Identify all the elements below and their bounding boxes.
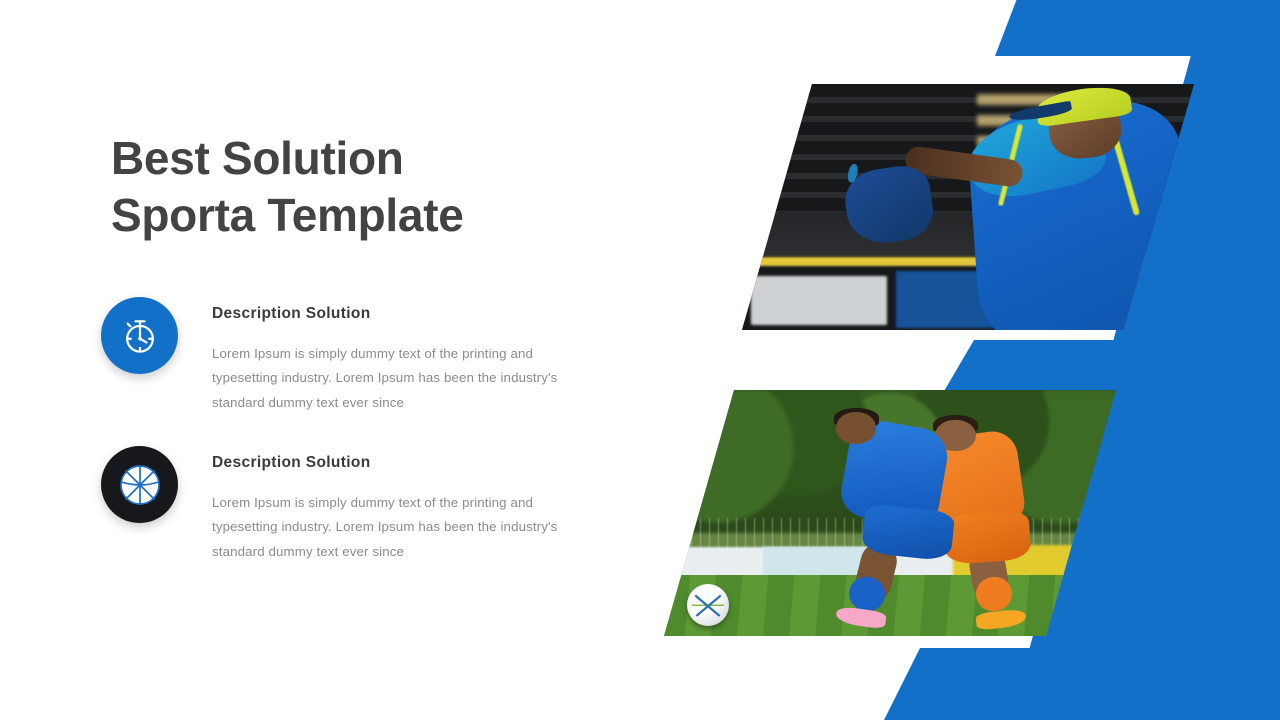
top-blue-parallelogram-shape bbox=[960, 0, 1280, 56]
feature-item-1: Description Solution Lorem Ipsum is simp… bbox=[101, 297, 584, 415]
feature-text-2: Description Solution Lorem Ipsum is simp… bbox=[212, 446, 584, 564]
page-title: Best Solution Sporta Template bbox=[111, 130, 631, 244]
soccer-players-photo bbox=[664, 390, 1116, 636]
stopwatch-icon bbox=[101, 297, 178, 374]
feature-text-1: Description Solution Lorem Ipsum is simp… bbox=[212, 297, 584, 415]
feature-item-2: Description Solution Lorem Ipsum is simp… bbox=[101, 446, 584, 564]
title-line-1: Best Solution bbox=[111, 130, 631, 187]
mid-blue-stripe-shape bbox=[940, 340, 1280, 398]
baseball-pitcher-photo bbox=[742, 84, 1194, 330]
feature-heading-1: Description Solution bbox=[212, 305, 584, 323]
basketball-icon bbox=[101, 446, 178, 523]
slide-canvas: Best Solution Sporta Template bbox=[0, 0, 1280, 720]
bottom-blue-parallelogram-shape bbox=[880, 648, 1280, 720]
feature-body-1: Lorem Ipsum is simply dummy text of the … bbox=[212, 342, 584, 415]
title-line-2: Sporta Template bbox=[111, 187, 631, 244]
feature-body-2: Lorem Ipsum is simply dummy text of the … bbox=[212, 491, 584, 564]
feature-heading-2: Description Solution bbox=[212, 454, 584, 472]
